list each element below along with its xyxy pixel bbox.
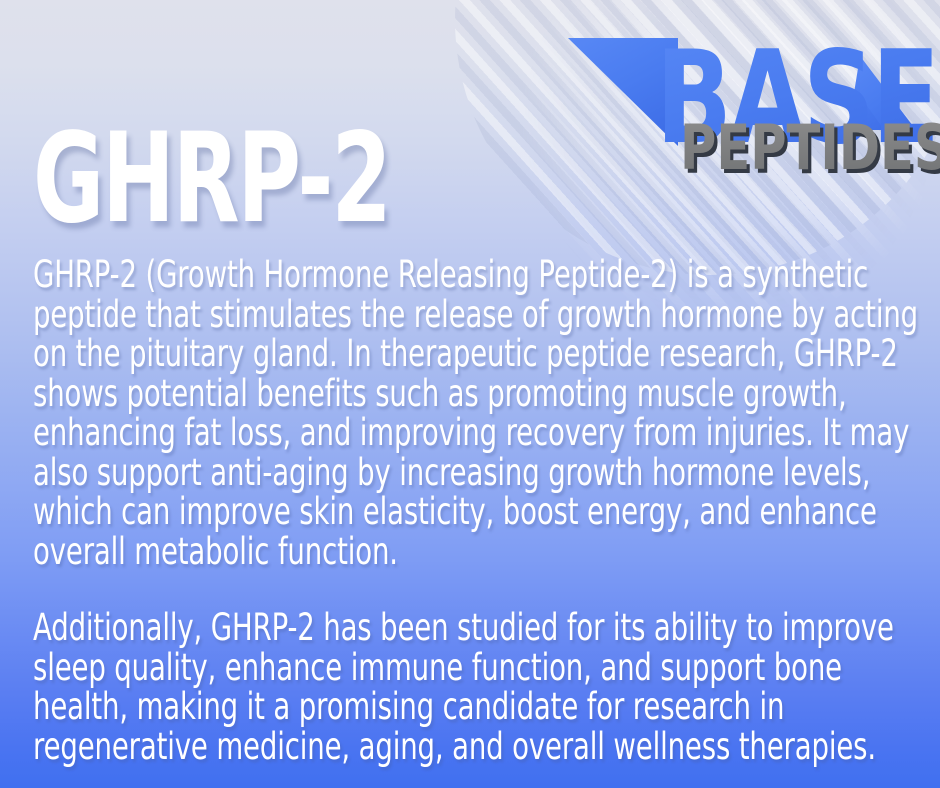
brand-logo: BASE PEPTIDES PEPTIDES (560, 18, 930, 188)
description-block: GHRP-2 (Growth Hormone Releasing Peptide… (33, 218, 925, 788)
peptide-info-card: GHRP-2 BASE PEPTIDES (0, 0, 940, 788)
description-paragraph-2: Additionally, GHRP-2 has been studied fo… (33, 608, 925, 766)
logo-brand-secondary-text: PEPTIDES (680, 113, 940, 185)
description-paragraph-1: GHRP-2 (Growth Hormone Releasing Peptide… (33, 255, 925, 571)
